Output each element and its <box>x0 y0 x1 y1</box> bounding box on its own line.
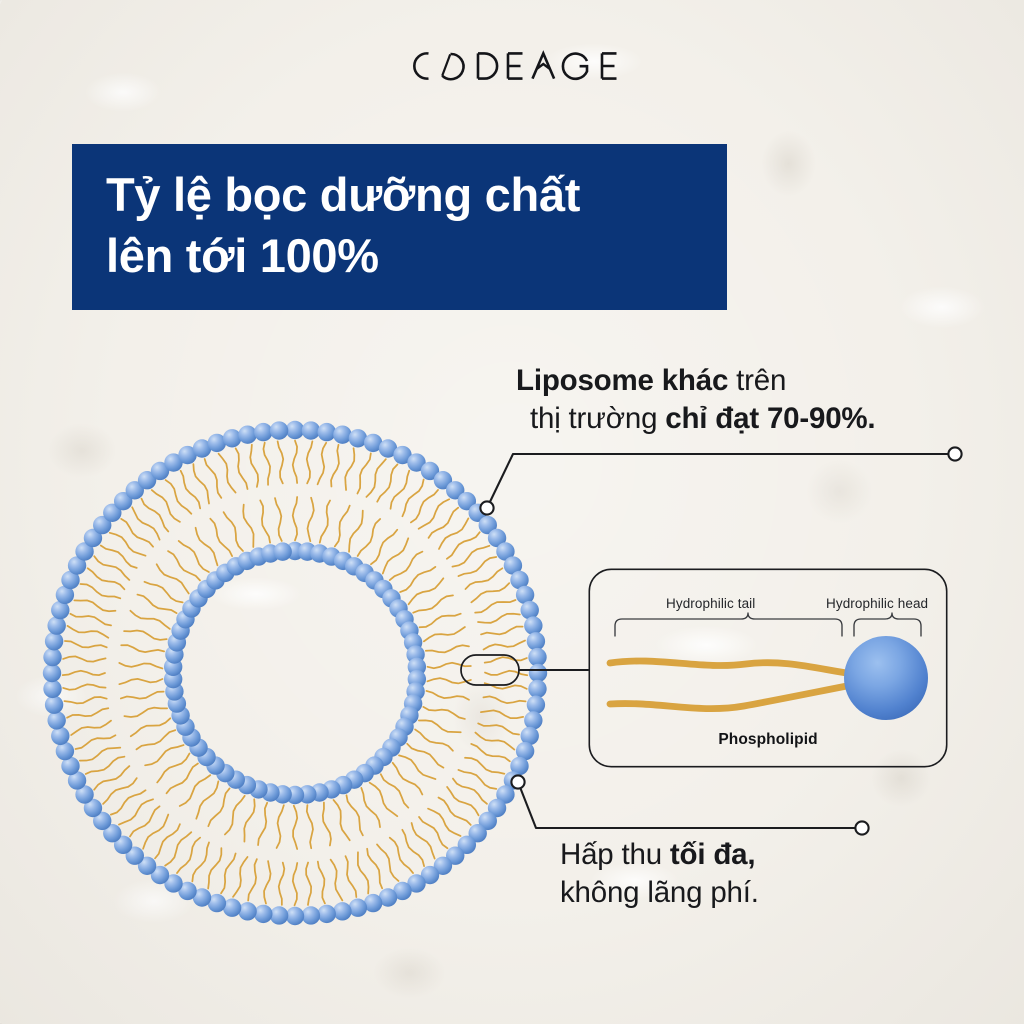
headline-banner: Tỷ lệ bọc dưỡng chất lên tới 100% <box>72 144 727 310</box>
hydrophilic-head-label: Hydrophilic head <box>826 596 928 611</box>
callout-bottom-line1-bold: tối đa, <box>670 838 755 871</box>
callout-top-line1-rest: trên <box>728 364 786 397</box>
callout-bottom-line2: không lãng phí. <box>560 876 759 909</box>
callout-top-line2-bold: chỉ đạt 70-90%. <box>665 402 875 435</box>
phospholipid-name-label: Phospholipid <box>588 731 948 749</box>
banner-headline: Tỷ lệ bọc dưỡng chất lên tới 100% <box>106 164 713 286</box>
brand-logo <box>0 44 1024 94</box>
codeage-wordmark-icon <box>404 44 620 88</box>
callout-top: Liposome khác trên thị trường chỉ đạt 70… <box>516 362 986 439</box>
callout-top-line1-bold-text: Liposome khác <box>516 364 728 397</box>
phospholipid-detail-card: Hydrophilic tail Hydrophilic head Phosph… <box>588 568 948 768</box>
hydrophilic-tail-label: Hydrophilic tail <box>666 596 755 611</box>
callout-bottom: Hấp thu tối đa, không lãng phí. <box>560 836 980 913</box>
callout-bottom-line1-rest: Hấp thu <box>560 838 670 871</box>
callout-top-line2-rest: thị trường <box>530 402 665 435</box>
liposome-diagram <box>30 408 560 938</box>
callout-top-line2: thị trường chỉ đạt 70-90%. <box>516 400 986 438</box>
infographic-canvas: Tỷ lệ bọc dưỡng chất lên tới 100% <box>0 0 1024 1024</box>
